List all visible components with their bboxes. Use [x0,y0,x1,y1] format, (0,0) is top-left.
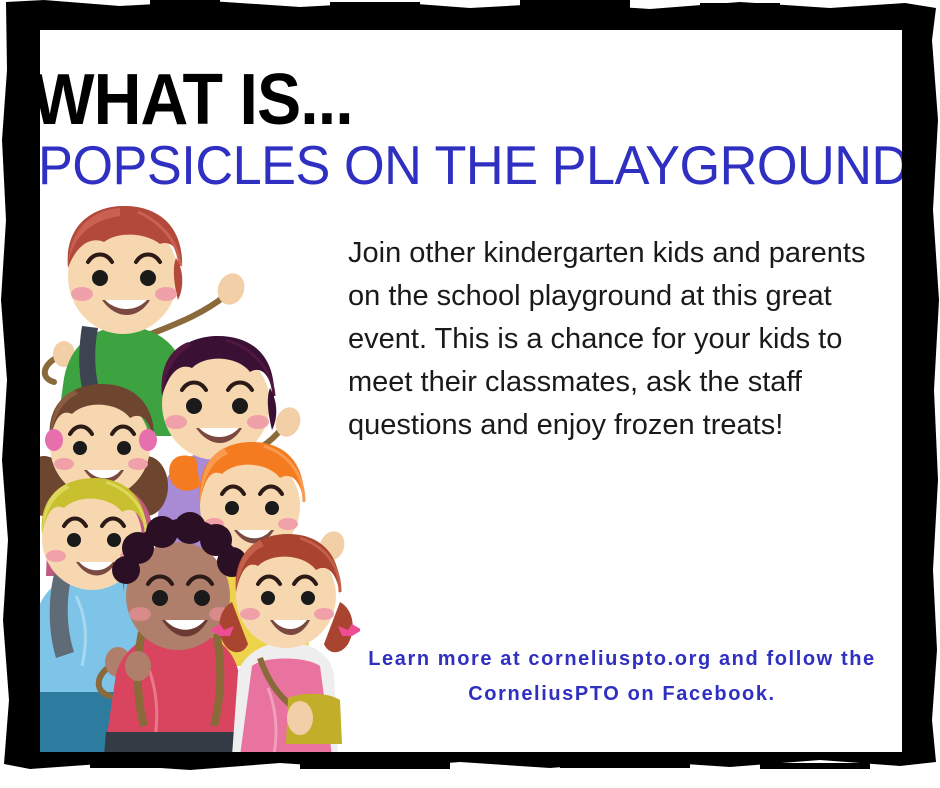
body-paragraph: Join other kindergarten kids and parents… [348,232,878,447]
footer-call-to-action: Learn more at corneliuspto.org and follo… [352,642,892,712]
page-title: WHAT IS... [32,64,353,136]
page-subtitle: POPSICLES ON THE PLAYGROUND? [38,138,937,193]
children-illustration [20,196,360,756]
poster-flyer: WHAT IS... POPSICLES ON THE PLAYGROUND? … [0,0,940,788]
